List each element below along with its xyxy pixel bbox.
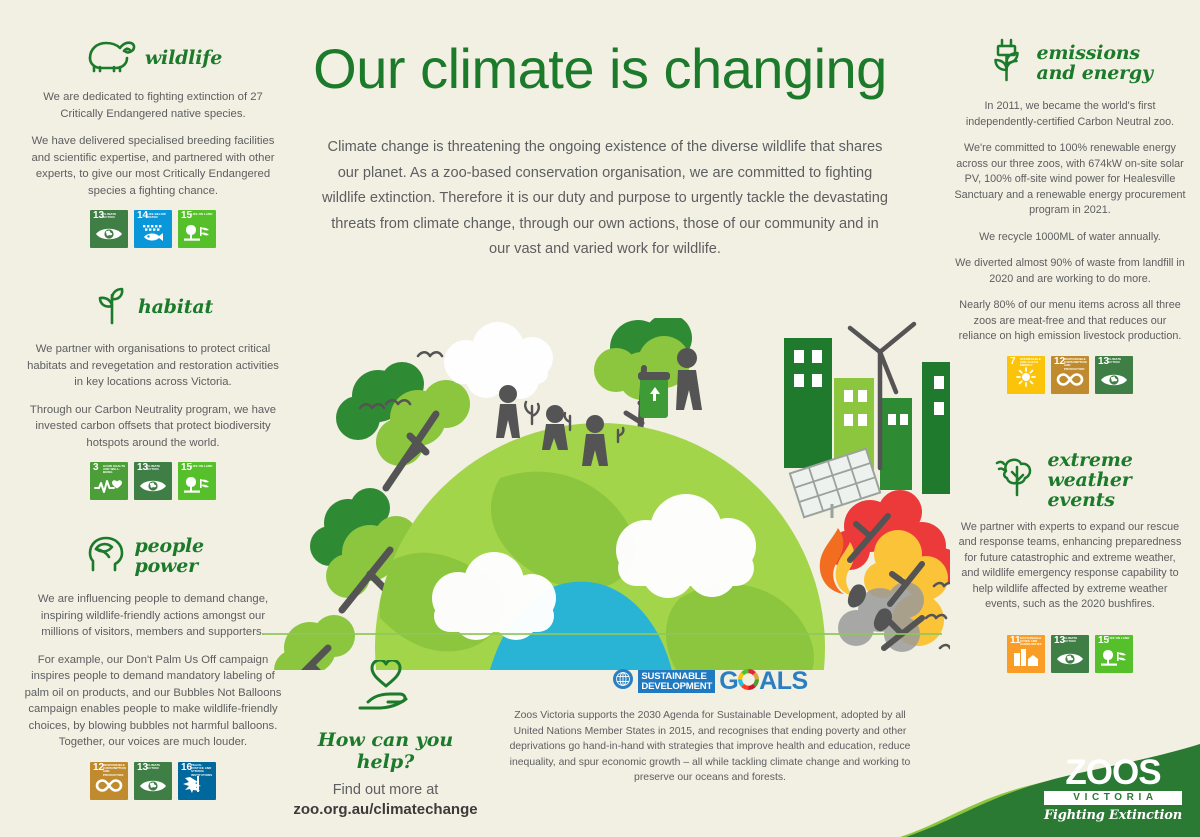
sdg-label: SUSTAINABLE CITIES AND COMMUNITIES (1020, 637, 1043, 647)
help-subtitle: Find out more at (288, 781, 483, 800)
paragraph: For example, our Don't Palm Us Off campa… (22, 652, 284, 751)
heart-in-hand-icon (352, 705, 420, 722)
sdg-glyph-city (1007, 647, 1045, 672)
sdg-badge[interactable]: 13 CLIMATE ACTION (90, 210, 128, 248)
goals-wordmark: G (719, 669, 807, 695)
section-heading: people power (22, 530, 284, 581)
sdg-footer-block: SUSTAINABLE DEVELOPMENT G (500, 668, 920, 786)
sdg-glyph-eye-globe (134, 477, 172, 499)
sdg-label: GOOD HEALTH AND WELL-BEING (103, 465, 126, 475)
left-column: wildlife We are dedicated to fighting ex… (22, 36, 284, 820)
sdg-badge[interactable]: 12 RESPONSIBLE CONSUMPTION AND PRODUCTIO… (1051, 356, 1089, 394)
paragraph: Nearly 80% of our menu items across all … (954, 298, 1186, 345)
section-body: We partner with organisations to protect… (22, 341, 284, 451)
sdg-glyph-tree-bird (178, 474, 216, 499)
paragraph: We diverted almost 90% of waste from lan… (954, 256, 1186, 287)
sdg-badge[interactable]: 15 LIFE ON LAND (178, 462, 216, 500)
un-emblem-icon (612, 668, 634, 695)
help-title: How can you help? (288, 729, 483, 773)
sdg-glyph-eye-globe (134, 777, 172, 799)
paragraph: We partner with experts to expand our re… (954, 520, 1186, 613)
sdg-label: LIFE ON LAND (191, 213, 214, 216)
infographic-page: Our climate is changing Climate change i… (0, 0, 1200, 837)
sdg-badge[interactable]: 15 LIFE ON LAND (178, 210, 216, 248)
section-title: people power (135, 536, 225, 576)
sdg-label: CLIMATE ACTION (1108, 358, 1131, 364)
sdg-badge-row: 7 AFFORDABLE AND CLEAN ENERGY 12 RESPONS… (954, 356, 1186, 394)
ground-line (262, 633, 942, 635)
seedling-icon (93, 282, 131, 331)
brand-region: VICTORIA (1044, 791, 1182, 805)
sdg-glyph-eye-globe (1051, 650, 1089, 672)
section-extreme-weather-events: extreme weather events We partner with e… (954, 450, 1186, 673)
windblown-tree-icon (993, 453, 1041, 506)
bushfire-scene (820, 490, 950, 652)
section-heading: wildlife (22, 36, 284, 79)
section-wildlife: wildlife We are dedicated to fighting ex… (22, 36, 284, 248)
person-planting-1 (496, 385, 520, 438)
sdg-label: RESPONSIBLE CONSUMPTION AND PRODUCTION (103, 764, 126, 777)
section-people-power: people power We are influencing people t… (22, 530, 284, 800)
sdg-number: 11 (1010, 636, 1021, 646)
brand-name: ZOOS (1044, 756, 1182, 789)
globe-illustration (250, 318, 950, 670)
section-title: habitat (138, 297, 213, 317)
sdg-logo-line2: DEVELOPMENT (641, 681, 712, 692)
sdg-badge[interactable]: 11 SUSTAINABLE CITIES AND COMMUNITIES (1007, 635, 1045, 673)
sdg-glyph-eye-globe (90, 225, 128, 247)
goals-pre: G (719, 669, 738, 694)
sdg-color-wheel-icon (738, 669, 759, 695)
sdg-label: CLIMATE ACTION (1064, 637, 1087, 643)
sdg-badge[interactable]: 3 GOOD HEALTH AND WELL-BEING (90, 462, 128, 500)
sdg-label: LIFE BELOW WATER (147, 213, 170, 219)
plug-plant-icon (984, 36, 1030, 89)
sdg-glyph-tree-bird (178, 222, 216, 247)
sdg-label: CLIMATE ACTION (147, 764, 170, 770)
sdg-badge[interactable]: 13 CLIMATE ACTION (1051, 635, 1089, 673)
sdg-glyph-sun (1007, 366, 1045, 393)
sdg-badge-row: 13 CLIMATE ACTION 14 LIFE BELOW WATER (22, 210, 284, 248)
sdg-badge[interactable]: 12 RESPONSIBLE CONSUMPTION AND PRODUCTIO… (90, 762, 128, 800)
sdg-label: LIFE ON LAND (191, 465, 214, 468)
sdg-label: RESPONSIBLE CONSUMPTION AND PRODUCTION (1064, 358, 1087, 371)
paragraph: Through our Carbon Neutrality program, w… (22, 402, 284, 452)
section-heading: emissions and energy (954, 36, 1186, 89)
head-leaf-icon (82, 530, 128, 581)
paragraph: We're committed to 100% renewable energy… (954, 141, 1186, 219)
section-title: extreme weather events (1048, 450, 1148, 510)
wombat-icon (84, 36, 138, 79)
sdg-glyph-heartbeat (90, 476, 128, 499)
sdg-footer-paragraph: Zoos Victoria supports the 2030 Agenda f… (500, 708, 920, 786)
sdg-glyph-tree-bird (1095, 647, 1133, 672)
sdg-label: CLIMATE ACTION (147, 465, 170, 471)
sdg-logo: SUSTAINABLE DEVELOPMENT G (500, 668, 920, 695)
goals-post: ALS (759, 669, 808, 694)
sdg-badge[interactable]: 7 AFFORDABLE AND CLEAN ENERGY (1007, 356, 1045, 394)
sdg-glyph-infinity (1051, 371, 1089, 393)
sdg-glyph-infinity (90, 777, 128, 799)
sdg-label: CLIMATE ACTION (103, 213, 126, 219)
section-body: In 2011, we became the world's first ind… (954, 99, 1186, 345)
brand-corner: ZOOS VICTORIA Fighting Extinction (900, 702, 1200, 837)
sdg-badge-row: 3 GOOD HEALTH AND WELL-BEING 13 CLIMATE … (22, 462, 284, 500)
section-heading: habitat (22, 282, 284, 331)
paragraph: In 2011, we became the world's first ind… (954, 99, 1186, 130)
sdg-badge-row: 11 SUSTAINABLE CITIES AND COMMUNITIES 13… (954, 635, 1186, 673)
sdg-badge[interactable]: 13 CLIMATE ACTION (134, 462, 172, 500)
section-heading: extreme weather events (954, 450, 1186, 510)
section-body: We partner with experts to expand our re… (954, 520, 1186, 613)
city-skyline (784, 324, 950, 518)
paragraph: We partner with organisations to protect… (22, 341, 284, 391)
sdg-glyph-fish (134, 223, 172, 247)
section-title: wildlife (145, 48, 222, 68)
paragraph: We are dedicated to fighting extinction … (22, 89, 284, 122)
section-emissions-and-energy: emissions and energy In 2011, we became … (954, 36, 1186, 394)
zoos-victoria-logo: ZOOS VICTORIA Fighting Extinction (1044, 756, 1182, 823)
paragraph: We recycle 1000ML of water annually. (954, 230, 1186, 246)
help-url[interactable]: zoo.org.au/climatechange (288, 801, 483, 818)
paragraph: We are influencing people to demand chan… (22, 591, 284, 641)
person-with-bin (676, 348, 702, 410)
intro-paragraph: Climate change is threatening the ongoin… (320, 135, 890, 263)
sdg-badge[interactable]: 13 CLIMATE ACTION (1095, 356, 1133, 394)
sdg-badge[interactable]: 13 CLIMATE ACTION (134, 762, 172, 800)
sdg-number: 3 (93, 463, 99, 473)
sdg-label: LIFE ON LAND (1108, 637, 1131, 640)
sdg-badge[interactable]: 15 LIFE ON LAND (1095, 635, 1133, 673)
sdg-glyph-dove (178, 774, 216, 799)
sustainable-development-text: SUSTAINABLE DEVELOPMENT (638, 670, 715, 693)
brand-tagline: Fighting Extinction (1044, 808, 1182, 823)
recycling-bin (638, 372, 670, 418)
section-title: emissions and energy (1037, 43, 1157, 83)
section-body: We are dedicated to fighting extinction … (22, 89, 284, 199)
sdg-badge[interactable]: 16 PEACE, JUSTICE AND STRONG INSTITUTION… (178, 762, 216, 800)
sdg-badge[interactable]: 14 LIFE BELOW WATER (134, 210, 172, 248)
how-can-you-help-block: How can you help? Find out more at zoo.o… (288, 660, 483, 818)
section-body: We are influencing people to demand chan… (22, 591, 284, 751)
right-column: emissions and energy In 2011, we became … (954, 36, 1186, 693)
sdg-badge-row: 12 RESPONSIBLE CONSUMPTION AND PRODUCTIO… (22, 762, 284, 800)
section-habitat: habitat We partner with organisations to… (22, 282, 284, 500)
sdg-glyph-eye-globe (1095, 371, 1133, 393)
paragraph: We have delivered specialised breeding f… (22, 133, 284, 199)
